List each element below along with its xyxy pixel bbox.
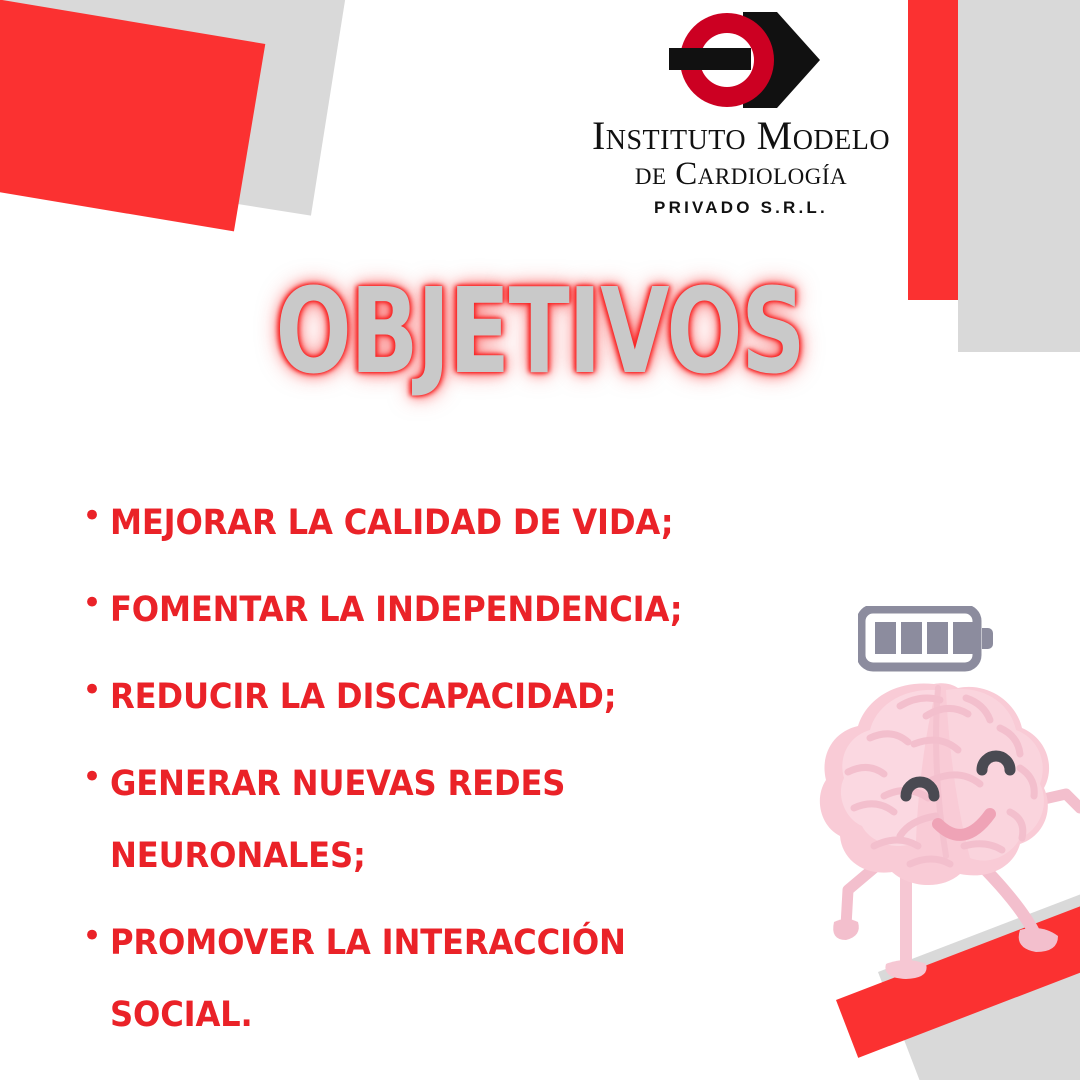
bullet-dot-icon: •	[76, 574, 110, 632]
list-item: • FOMENTAR LA INDEPENDENCIA;	[76, 574, 806, 646]
bullet-dot-icon: •	[76, 661, 110, 719]
objectives-list: • MEJORAR LA CALIDAD DE VIDA; • FOMENTAR…	[76, 487, 806, 1066]
list-item-label: REDUCIR LA DISCAPACIDAD;	[110, 661, 750, 733]
battery-full-icon	[858, 606, 994, 672]
list-item-label: MEJORAR LA CALIDAD DE VIDA;	[110, 487, 750, 559]
institute-logo: Instituto Modelo de Cardiología PRIVADO …	[588, 8, 894, 218]
top-right-red-bar	[908, 0, 958, 300]
list-item: • REDUCIR LA DISCAPACIDAD;	[76, 661, 806, 733]
list-item: • PROMOVER LA INTERACCIÓN SOCIAL.	[76, 907, 806, 1051]
logo-line-1: Instituto Modelo	[588, 116, 894, 156]
list-item-label: PROMOVER LA INTERACCIÓN SOCIAL.	[110, 907, 750, 1051]
bullet-dot-icon: •	[76, 487, 110, 545]
logo-line-2: de Cardiología	[588, 156, 894, 193]
top-right-gray-rectangle	[958, 0, 1080, 352]
bullet-dot-icon: •	[76, 748, 110, 806]
list-item-label: FOMENTAR LA INDEPENDENCIA;	[110, 574, 750, 646]
objectives-poster: Instituto Modelo de Cardiología PRIVADO …	[0, 0, 1080, 1080]
list-item: • GENERAR NUEVAS REDES NEURONALES;	[76, 748, 806, 892]
smiling-brain-character-icon	[814, 676, 1080, 1016]
list-item-label: GENERAR NUEVAS REDES NEURONALES;	[110, 748, 750, 892]
list-item: • MEJORAR LA CALIDAD DE VIDA;	[76, 487, 806, 559]
logo-line-3: PRIVADO S.R.L.	[588, 198, 894, 218]
eye-arrow-logo-icon	[657, 8, 825, 112]
bullet-dot-icon: •	[76, 907, 110, 965]
page-title-text: OBJETIVOS	[276, 272, 805, 390]
